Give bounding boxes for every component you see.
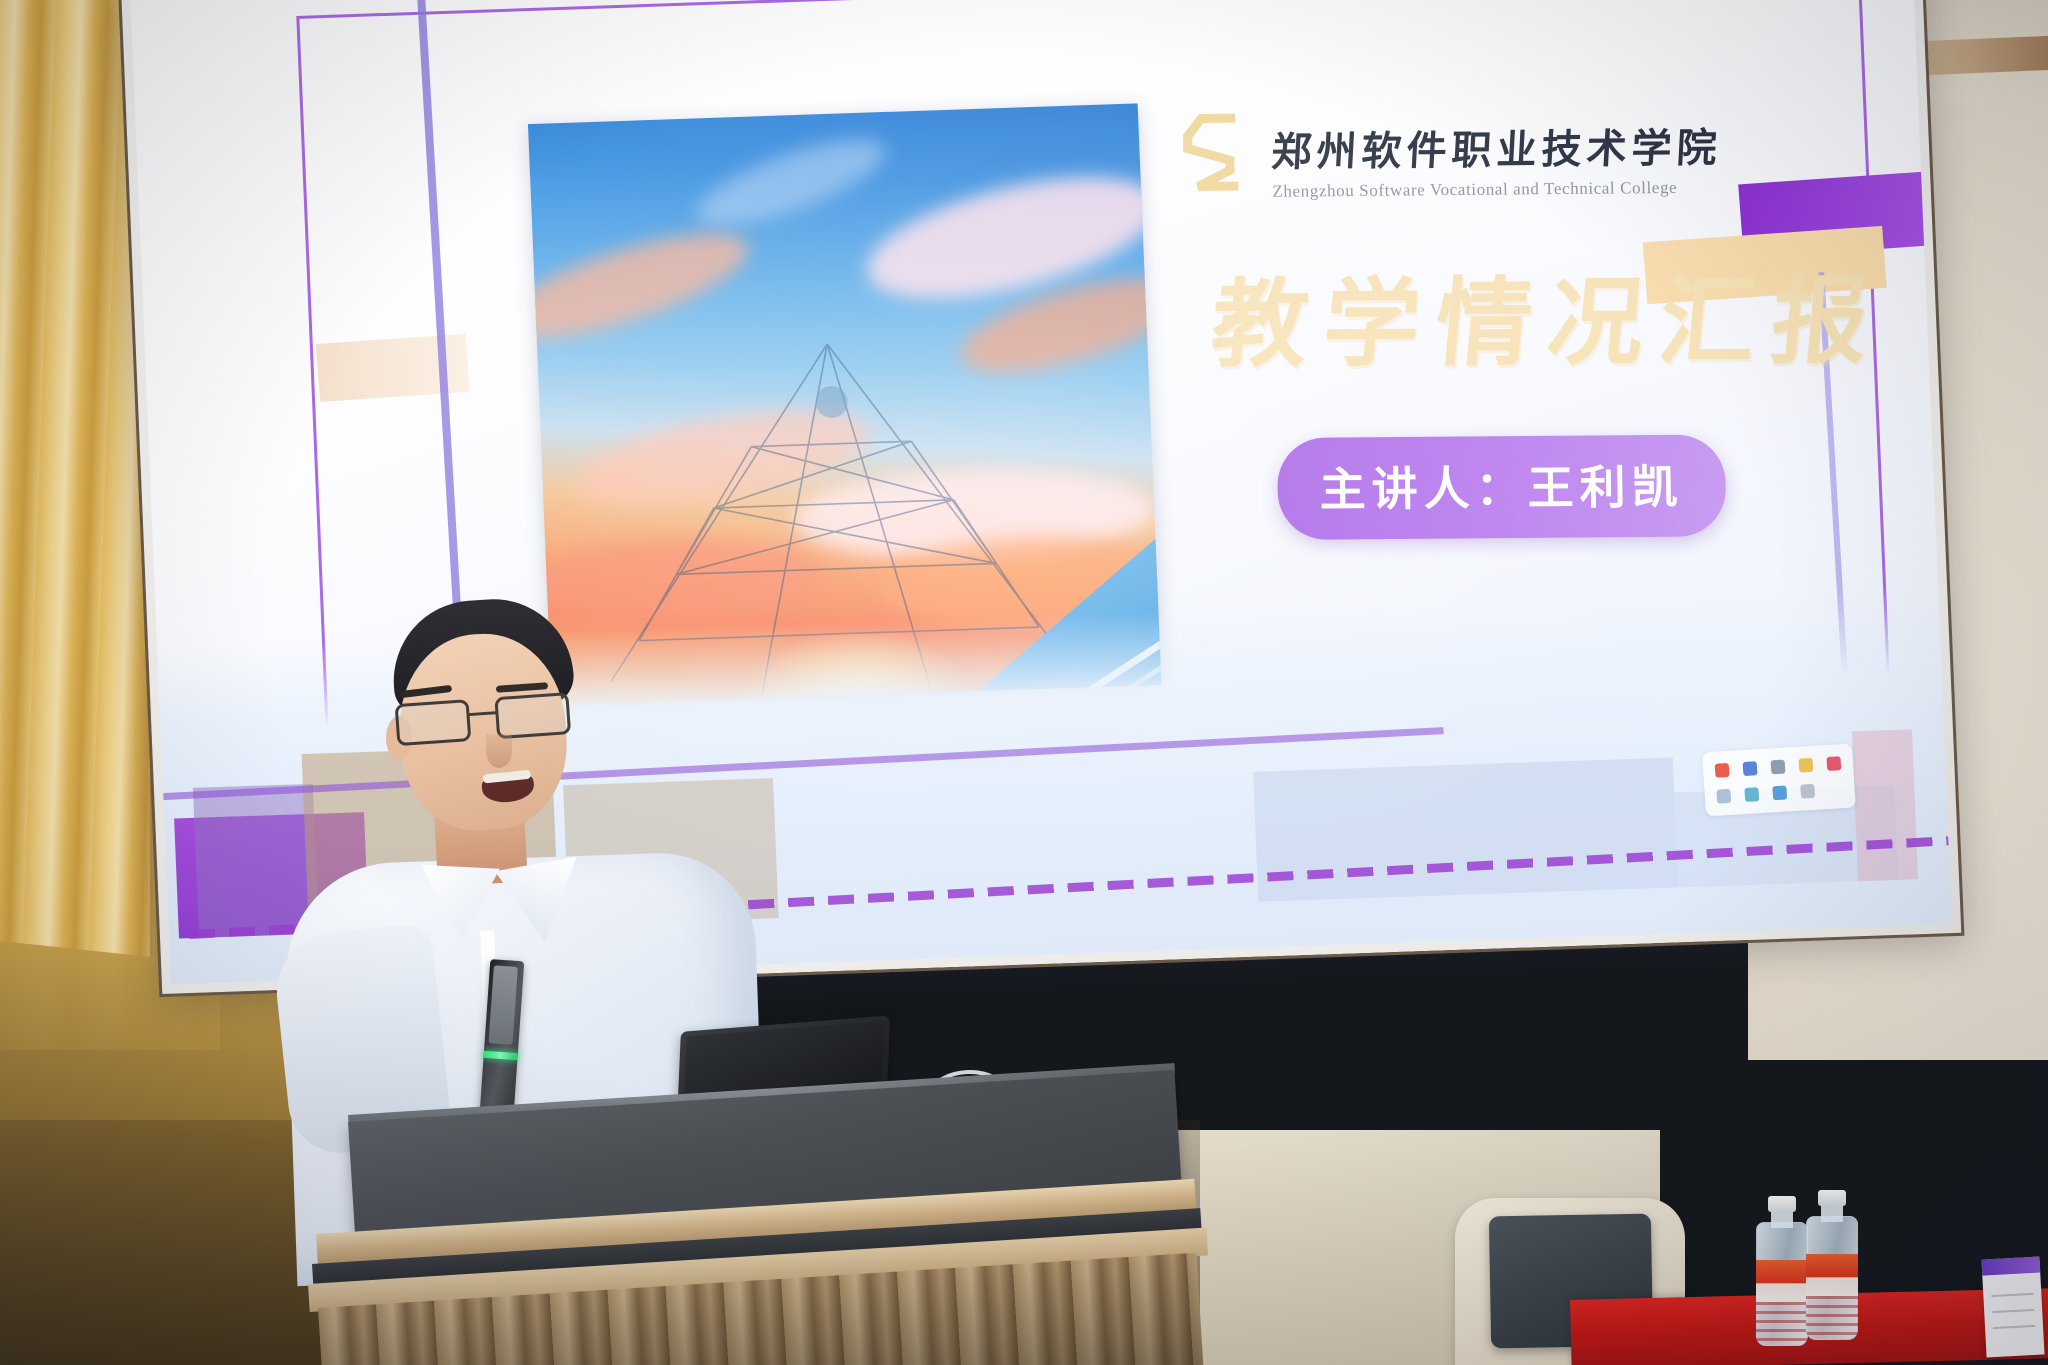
chrome-icon[interactable] [1799,758,1814,773]
campus-building [1253,758,1678,902]
bottle-cap [1768,1196,1796,1212]
name-card-line [1993,1325,2035,1329]
lens-right [494,692,571,739]
music-icon[interactable] [1744,787,1759,802]
microphone-led-indicator [483,1051,517,1060]
name-card-header [1981,1257,2040,1276]
bottle-ribs [1806,1296,1858,1340]
block-icon[interactable] [1827,756,1842,771]
bottle-label [1806,1254,1858,1296]
weather-icon[interactable] [1716,789,1731,804]
search-icon[interactable] [1772,785,1787,800]
college-name-cn: 郑州软件职业技术学院 [1270,115,1723,177]
college-name-en: Zhengzhou Software Vocational and Techni… [1272,177,1722,201]
s-monogram-icon [1177,106,1257,199]
water-bottle[interactable] [1756,1196,1808,1346]
desktop-taskbar-tray[interactable] [1702,743,1856,816]
slide-text-column: 郑州软件职业技术学院 Zhengzhou Software Vocational… [1176,94,1794,549]
name-card-line [1991,1293,2033,1297]
college-logo: 郑州软件职业技术学院 Zhengzhou Software Vocational… [1177,101,1779,203]
bottle-cap [1818,1190,1846,1206]
file-icon[interactable] [1800,784,1815,799]
cloud [528,213,759,360]
cloud [687,123,894,243]
bottle-ribs [1756,1302,1808,1346]
microphone-head [489,965,518,1044]
mail-icon[interactable] [1742,761,1757,776]
photograph-scene: 郑州软件职业技术学院 Zhengzhou Software Vocational… [0,0,2048,1365]
campus-tower [1852,729,1918,881]
name-card-line [1992,1309,2034,1313]
lens-left [395,699,472,746]
college-name: 郑州软件职业技术学院 Zhengzhou Software Vocational… [1271,101,1723,201]
presenter-nose [486,734,512,768]
bottle-label [1756,1260,1808,1302]
water-bottle[interactable] [1806,1190,1858,1340]
cloud-icon[interactable] [1771,760,1786,775]
deco-vertical-line-left [417,0,462,629]
glasses-bridge [469,711,497,716]
podium [348,1122,1176,1365]
slide-title: 教学情况汇报 [1206,243,1791,386]
wifi-icon[interactable] [1714,763,1729,778]
speaker-badge: 主讲人：王利凯 [1277,434,1727,539]
name-card[interactable] [1981,1257,2044,1358]
